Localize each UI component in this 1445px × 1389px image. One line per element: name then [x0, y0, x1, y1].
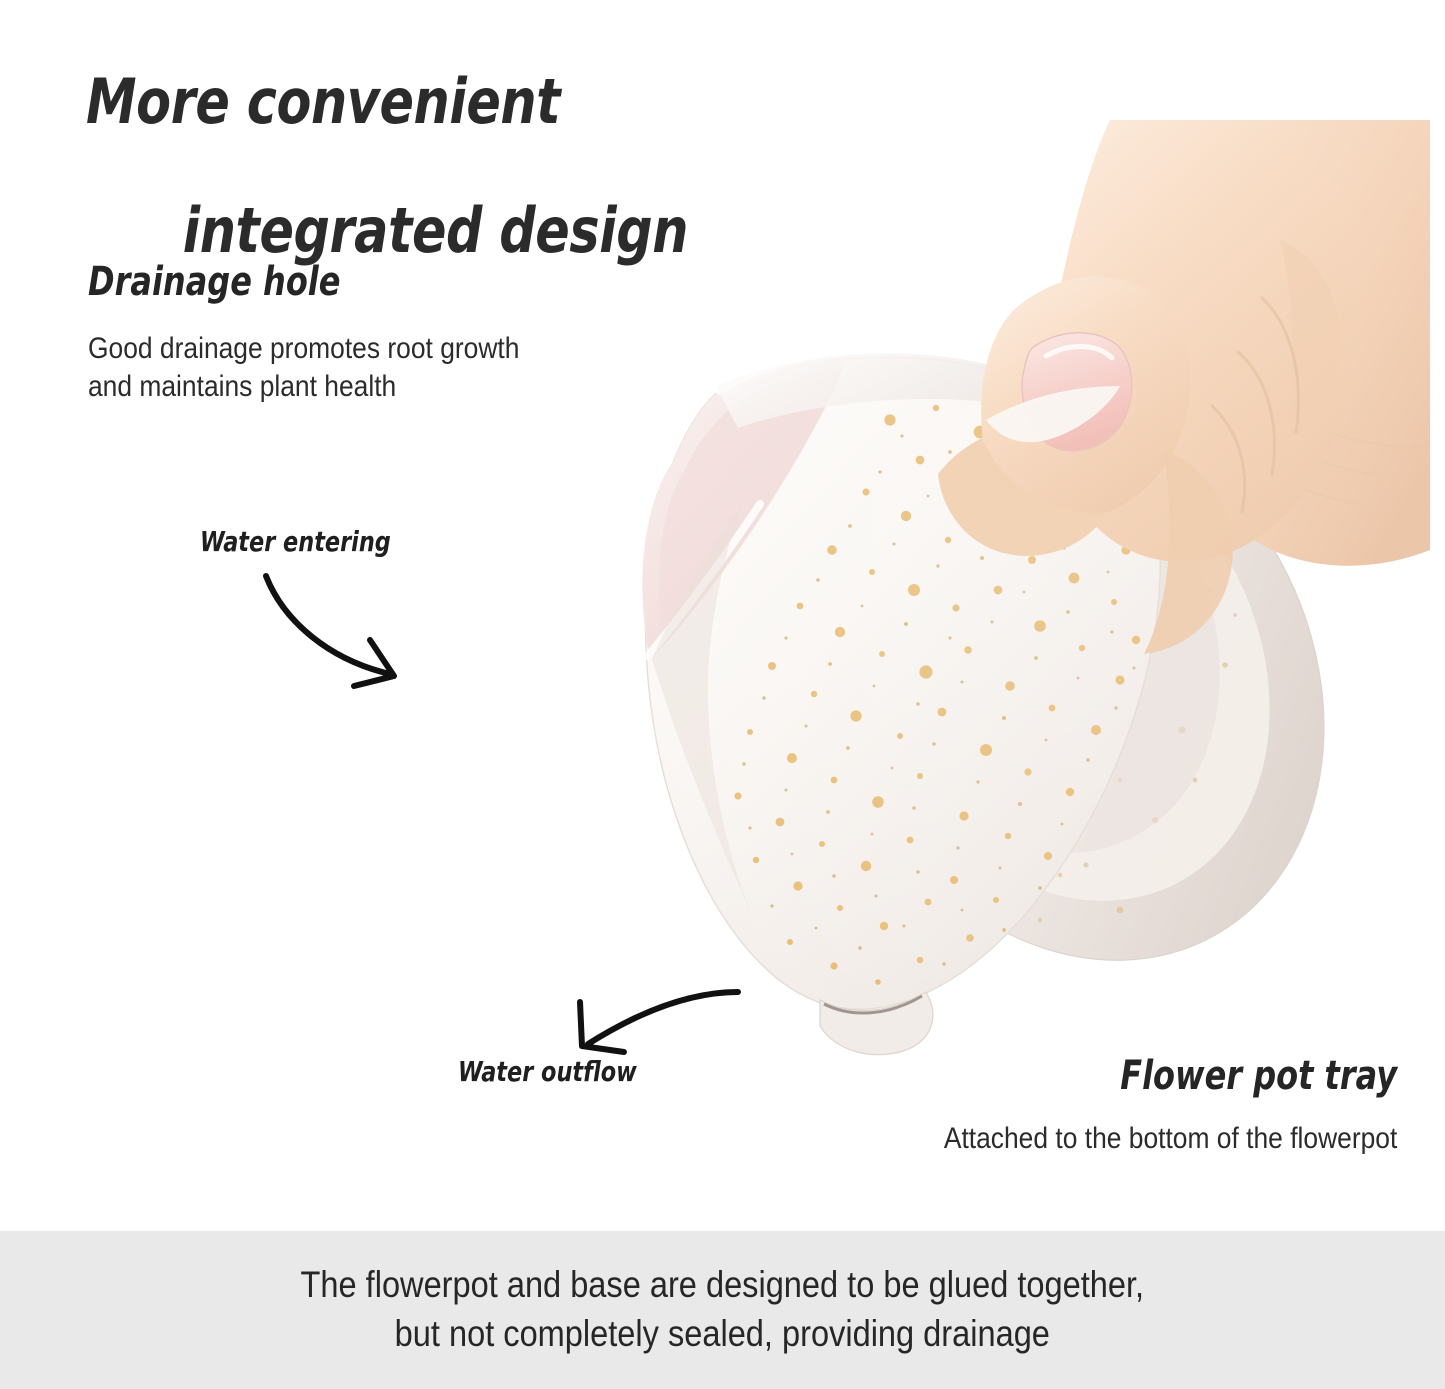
feature-body-flower-pot-tray: Attached to the bottom of the flowerpot — [944, 1120, 1397, 1158]
feature-body-drainage-hole: Good drainage promotes root growth and m… — [88, 330, 651, 407]
callout-water-entering: Water entering — [200, 528, 391, 556]
water-entering-arrow-icon — [258, 568, 458, 698]
water-outflow-arrow-icon — [552, 982, 752, 1062]
feature-title-drainage-hole: Drainage hole — [88, 262, 340, 302]
callout-water-outflow: Water outflow — [458, 1058, 637, 1086]
product-photo — [420, 120, 1430, 1060]
feature-title-flower-pot-tray: Flower pot tray — [1120, 1056, 1397, 1096]
bottom-banner: The flowerpot and base are designed to b… — [0, 1231, 1445, 1389]
bottom-banner-text: The flowerpot and base are designed to b… — [301, 1261, 1145, 1359]
product-infographic: More convenient integrated design — [0, 0, 1445, 1389]
pot-and-hand-illustration — [420, 120, 1430, 1060]
